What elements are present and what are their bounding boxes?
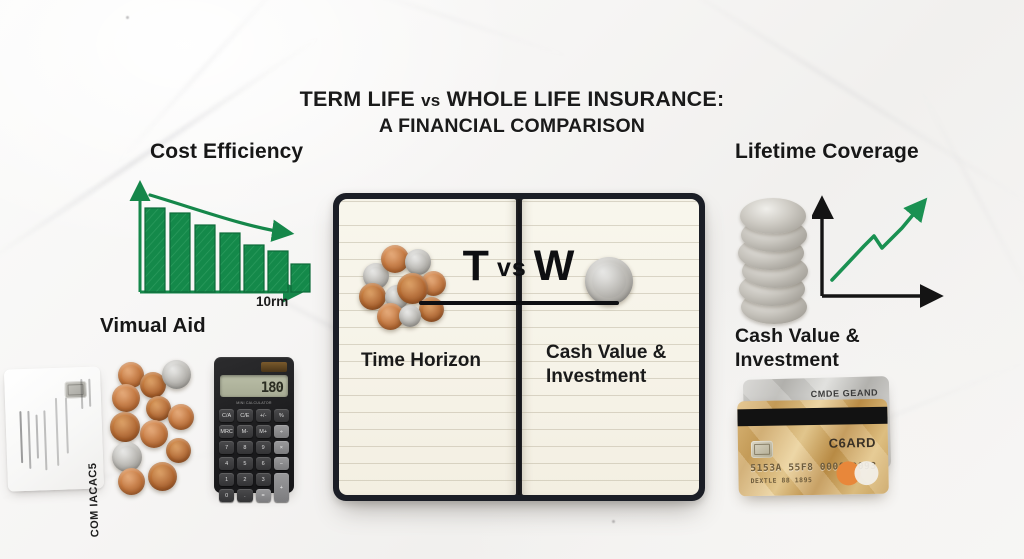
- lifetime-coverage-line-chart: [812, 192, 947, 310]
- calculator[interactable]: 180 MINI CALCULATOR C/A C/E +/- % MRC M-…: [214, 357, 294, 493]
- calc-key-divide[interactable]: ÷: [274, 425, 289, 438]
- heading-visual-aid: Vimual Aid: [100, 314, 206, 338]
- card-text-line: [20, 411, 23, 463]
- card-text-line: [89, 379, 91, 407]
- silver-card-brand: CMDE GEAND: [811, 387, 879, 399]
- calc-key[interactable]: 5: [237, 457, 252, 470]
- bar-chart-x-tick-label: 10rm: [256, 294, 288, 309]
- gold-credit-card[interactable]: C6ARD 5153A 55F8 0000 9093 DEXTLE 88 189…: [737, 399, 889, 497]
- card-holder-name: DEXTLE 88 1895: [751, 476, 813, 485]
- marble-speck: [126, 16, 129, 19]
- mastercard-logo-icon: [836, 461, 878, 486]
- marble-speck: [612, 520, 615, 523]
- calc-key[interactable]: 8: [237, 441, 252, 454]
- open-notebook: Time Horizon Cash Value & Investment Tvs…: [333, 193, 705, 501]
- calc-key[interactable]: MRC: [219, 425, 234, 438]
- heading-cash-value-investment: Cash Value & Investment: [735, 324, 905, 373]
- calc-key[interactable]: C/E: [237, 409, 252, 422]
- title-vs: vs: [421, 91, 440, 110]
- business-card[interactable]: COM IACAC5: [4, 366, 104, 491]
- calc-key[interactable]: 9: [256, 441, 271, 454]
- gold-card-brand: C6ARD: [829, 435, 877, 451]
- label-cash-value-investment: Cash Value & Investment: [546, 341, 696, 389]
- solar-panel: [261, 362, 287, 372]
- card-text-line: [65, 398, 68, 454]
- page-rule-lines: [339, 199, 516, 495]
- calc-key[interactable]: 6: [256, 457, 271, 470]
- card-text-line: [28, 411, 32, 469]
- display-value: 180: [261, 380, 283, 396]
- calc-key-equals[interactable]: =: [256, 489, 271, 502]
- calc-key[interactable]: +/-: [256, 409, 271, 422]
- quarter-coin-stack: [738, 196, 810, 324]
- title-line-2: A FINANCIAL COMPARISON: [0, 114, 1024, 139]
- calc-key[interactable]: %: [274, 409, 289, 422]
- upward-growth-line: [832, 204, 922, 280]
- marble-vein: [336, 0, 584, 62]
- title-line-1: TERM LIFE vs WHOLE LIFE INSURANCE:: [0, 86, 1024, 114]
- calc-key[interactable]: 4: [219, 457, 234, 470]
- calculator-display: 180: [220, 375, 288, 397]
- card-chip-icon: [751, 441, 773, 458]
- calc-key[interactable]: 2: [237, 473, 252, 486]
- card-text-line: [36, 415, 39, 459]
- calc-key[interactable]: M-: [237, 425, 252, 438]
- calc-key[interactable]: 7: [219, 441, 234, 454]
- calc-key[interactable]: 3: [256, 473, 271, 486]
- quarter-coin: [585, 257, 633, 305]
- notebook-right-page: Cash Value & Investment: [522, 199, 699, 495]
- line-chart-axes: [822, 202, 937, 296]
- calc-key[interactable]: M+: [256, 425, 271, 438]
- headline-underline: [419, 301, 619, 305]
- business-card-name: COM IACAC5: [87, 462, 102, 537]
- heading-lifetime-coverage: Lifetime Coverage: [735, 140, 919, 164]
- cost-efficiency-bar-chart: [128, 170, 318, 310]
- calc-key-zero[interactable]: 0: [219, 489, 234, 502]
- calc-key[interactable]: C/A: [219, 409, 234, 422]
- calculator-keypad[interactable]: C/A C/E +/- % MRC M- M+ ÷ 7 8 9 × 4 5 6 …: [219, 409, 289, 502]
- card-text-line: [44, 410, 48, 470]
- calculator-brand: MINI CALCULATOR: [214, 401, 294, 405]
- card-text-line: [55, 398, 59, 466]
- calc-key-multiply[interactable]: ×: [274, 441, 289, 454]
- heading-cost-efficiency: Cost Efficiency: [150, 140, 303, 164]
- card-chip-icon: [64, 381, 87, 399]
- calc-key-decimal[interactable]: .: [237, 489, 252, 502]
- notebook-left-page: Time Horizon: [339, 199, 516, 495]
- calc-key-minus[interactable]: −: [274, 457, 289, 470]
- infographic-canvas: TERM LIFE vs WHOLE LIFE INSURANCE: A FIN…: [0, 0, 1024, 559]
- vertical-comparison-divider: [518, 213, 521, 481]
- magnetic-stripe: [737, 407, 887, 427]
- calc-key-plus[interactable]: +: [274, 473, 289, 502]
- label-time-horizon: Time Horizon: [361, 349, 511, 373]
- calc-key[interactable]: 1: [219, 473, 234, 486]
- page-title: TERM LIFE vs WHOLE LIFE INSURANCE: A FIN…: [0, 86, 1024, 138]
